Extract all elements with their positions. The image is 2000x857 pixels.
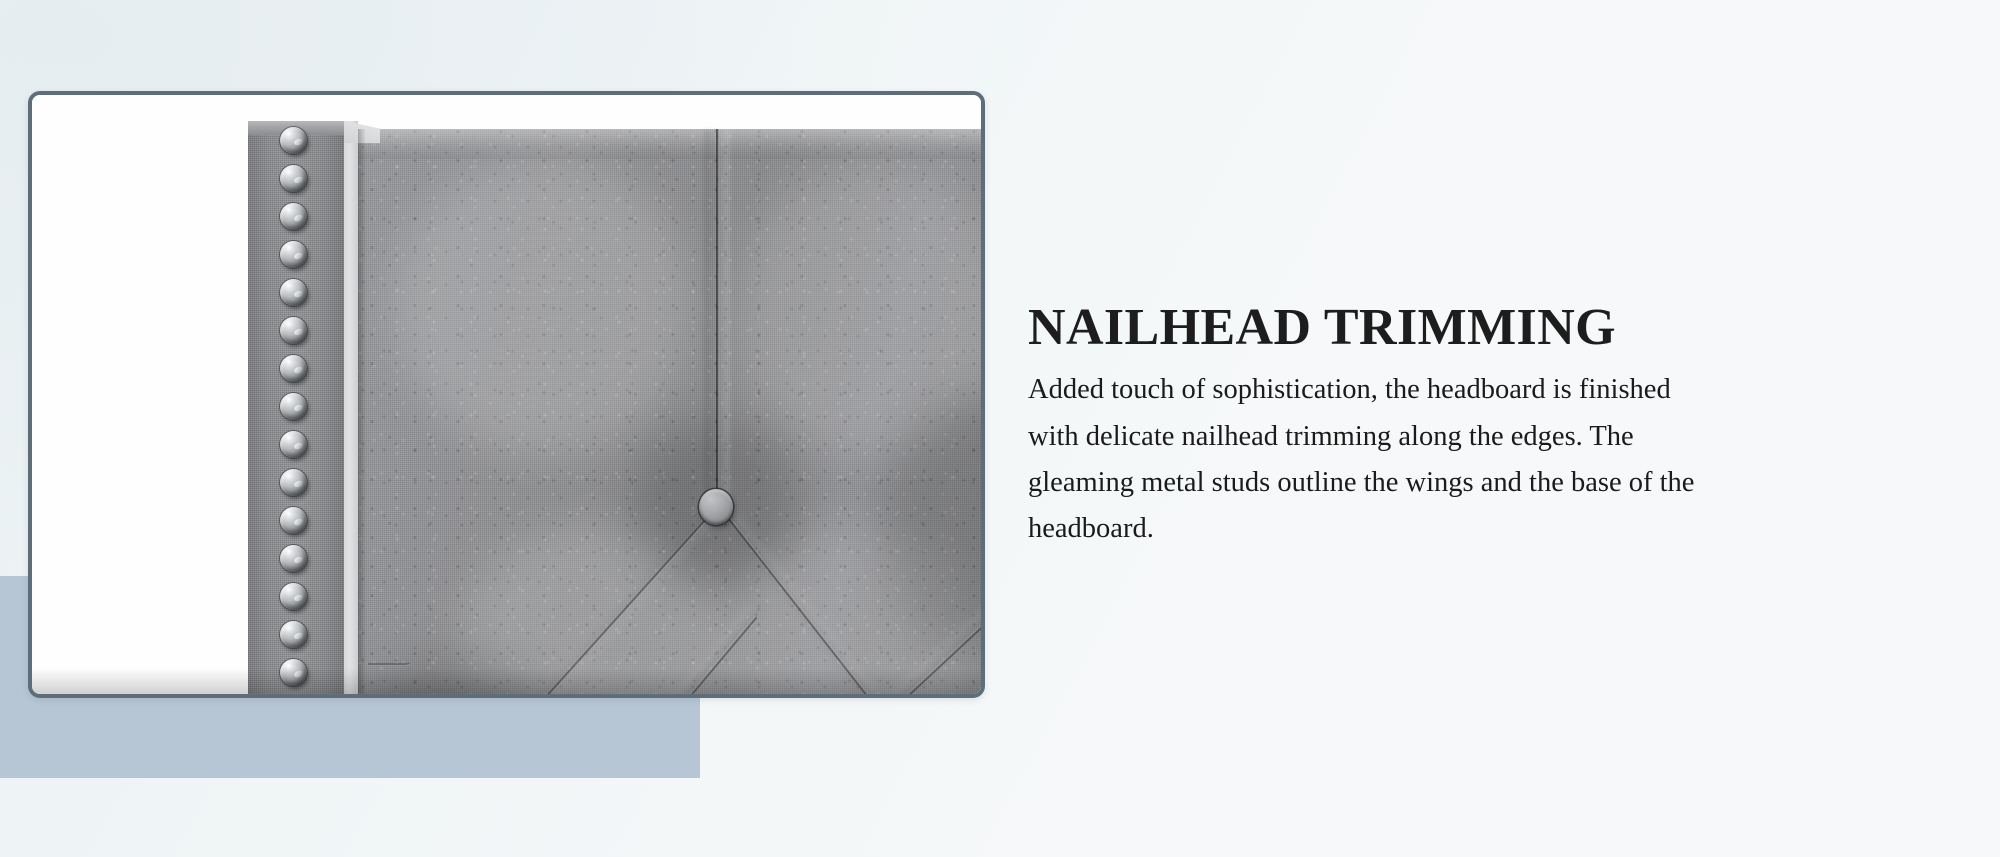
- nailhead-stud-icon: [280, 621, 307, 648]
- nailhead-stud-icon: [280, 165, 307, 192]
- nailhead-stud-icon: [280, 241, 307, 268]
- wing-panel-crease: [358, 129, 366, 694]
- nailhead-stud-icon: [280, 545, 307, 572]
- panel-vertical-seam: [716, 129, 719, 509]
- nailhead-stud-icon: [280, 583, 307, 610]
- feature-description: Added touch of sophistication, the headb…: [1028, 367, 1700, 553]
- product-image-card: [28, 91, 985, 698]
- feature-copy-block: NAILHEAD TRIMMING Added touch of sophist…: [1028, 300, 1728, 553]
- nailhead-stud-icon: [280, 355, 307, 382]
- nailhead-stud-icon: [280, 317, 307, 344]
- nailhead-stud-icon: [280, 659, 307, 686]
- nailhead-stud-icon: [280, 127, 307, 154]
- base-seam: [368, 663, 410, 665]
- nailhead-stud-icon: [280, 469, 307, 496]
- nailhead-stud-icon: [280, 393, 307, 420]
- wing-bevel-strip: [344, 121, 358, 694]
- nailhead-stud-icon: [280, 507, 307, 534]
- headboard-tufted-panel: [356, 129, 981, 694]
- nailhead-stud-icon: [280, 279, 307, 306]
- nailhead-stud-icon: [280, 203, 307, 230]
- headboard-photo: [32, 95, 981, 694]
- nailhead-stud-icon: [280, 431, 307, 458]
- tuft-button: [699, 489, 733, 525]
- feature-headline: NAILHEAD TRIMMING: [1028, 300, 1728, 355]
- panel-top-roll: [356, 129, 981, 159]
